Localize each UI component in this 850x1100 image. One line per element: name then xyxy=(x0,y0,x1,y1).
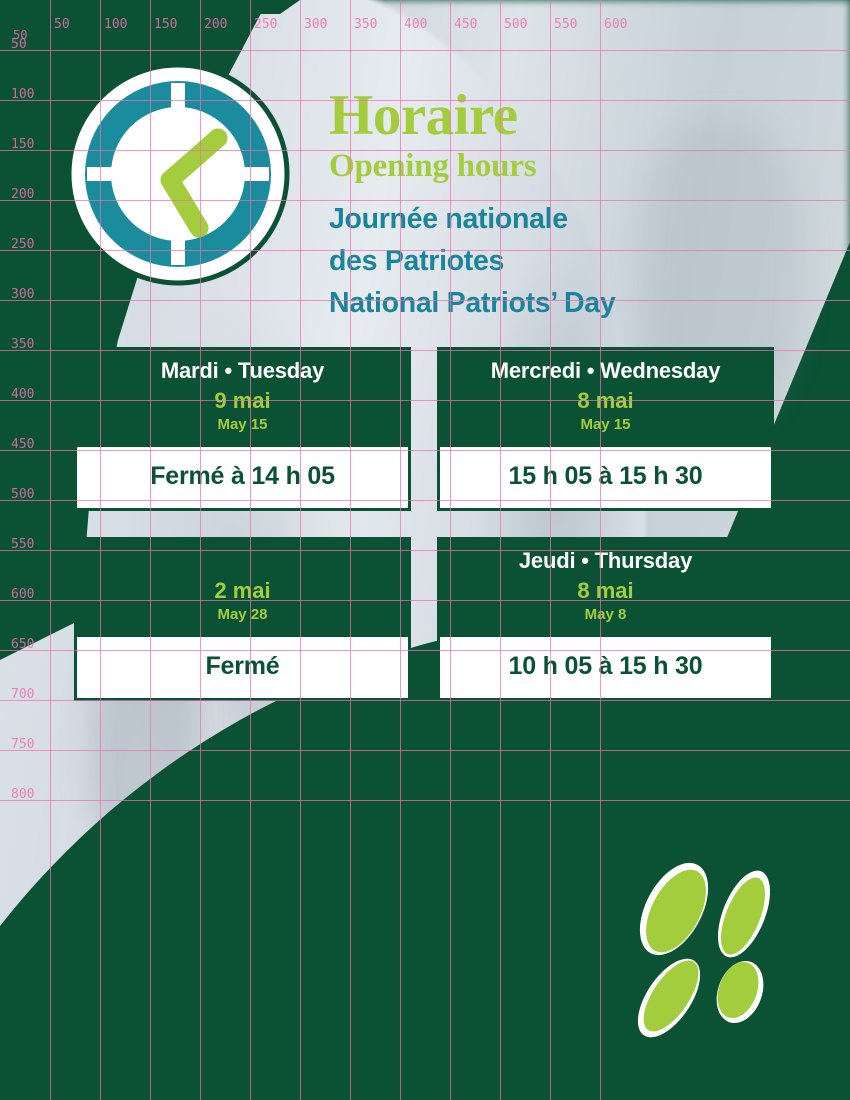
schedule-card-header: Jeudi • Thursday 8 mai May 8 xyxy=(437,537,774,637)
subtitle-line-2: des Patriotes xyxy=(329,240,799,282)
schedule-card-header: Mardi • Tuesday 9 mai May 15 xyxy=(74,347,411,447)
header-block: Horaire Opening hours Journée nationale … xyxy=(329,86,799,324)
subtitle-line-3: National Patriots’ Day xyxy=(329,282,799,324)
schedule-card-date-en: May 8 xyxy=(445,605,766,624)
page-subtitle: Journée nationale des Patriotes National… xyxy=(329,186,799,324)
schedule-card-date-en: May 28 xyxy=(82,605,403,624)
butterfly-logo-icon xyxy=(620,862,798,1050)
schedule-card-header: Mercredi • Wednesday 8 mai May 15 xyxy=(437,347,774,447)
schedule-grid: Mardi • Tuesday 9 mai May 15 Fermé à 14 … xyxy=(74,347,774,701)
schedule-card: 2 mai May 28 Fermé xyxy=(74,537,411,701)
clock-icon xyxy=(66,62,290,286)
schedule-card-hours: Fermé à 14 h 05 xyxy=(83,460,402,492)
schedule-card-hours: 10 h 05 à 15 h 30 xyxy=(446,650,765,682)
page-title-fr: Horaire xyxy=(329,86,799,146)
schedule-card-body: 10 h 05 à 15 h 30 xyxy=(437,637,774,701)
schedule-card-hours: 15 h 05 à 15 h 30 xyxy=(446,460,765,492)
schedule-card-day: Mardi • Tuesday xyxy=(82,357,403,385)
schedule-card-date-en: May 15 xyxy=(445,415,766,434)
schedule-card-date-fr: 8 mai xyxy=(445,577,766,605)
schedule-card: Mercredi • Wednesday 8 mai May 15 15 h 0… xyxy=(437,347,774,511)
background-green-bottom-strip xyxy=(0,1064,850,1100)
schedule-card-header: 2 mai May 28 xyxy=(74,537,411,637)
schedule-card-body: Fermé à 14 h 05 xyxy=(74,447,411,511)
schedule-card-day xyxy=(82,547,403,575)
schedule-card-body: Fermé xyxy=(74,637,411,701)
subtitle-line-1: Journée nationale xyxy=(329,198,799,240)
schedule-card-hours: Fermé xyxy=(83,650,402,682)
schedule-card-body: 15 h 05 à 15 h 30 xyxy=(437,447,774,511)
schedule-row: Mardi • Tuesday 9 mai May 15 Fermé à 14 … xyxy=(74,347,774,511)
schedule-card: Mardi • Tuesday 9 mai May 15 Fermé à 14 … xyxy=(74,347,411,511)
schedule-card-date-fr: 8 mai xyxy=(445,387,766,415)
schedule-card-date-fr: 2 mai xyxy=(82,577,403,605)
schedule-card-day: Jeudi • Thursday xyxy=(445,547,766,575)
schedule-card-date-fr: 9 mai xyxy=(82,387,403,415)
schedule-card-day: Mercredi • Wednesday xyxy=(445,357,766,385)
schedule-card-date-en: May 15 xyxy=(82,415,403,434)
schedule-card: Jeudi • Thursday 8 mai May 8 10 h 05 à 1… xyxy=(437,537,774,701)
poster-canvas: Horaire Opening hours Journée nationale … xyxy=(0,0,850,1100)
schedule-row: 2 mai May 28 Fermé Jeudi • Thursday 8 ma… xyxy=(74,537,774,701)
page-title-en: Opening hours xyxy=(329,146,799,186)
